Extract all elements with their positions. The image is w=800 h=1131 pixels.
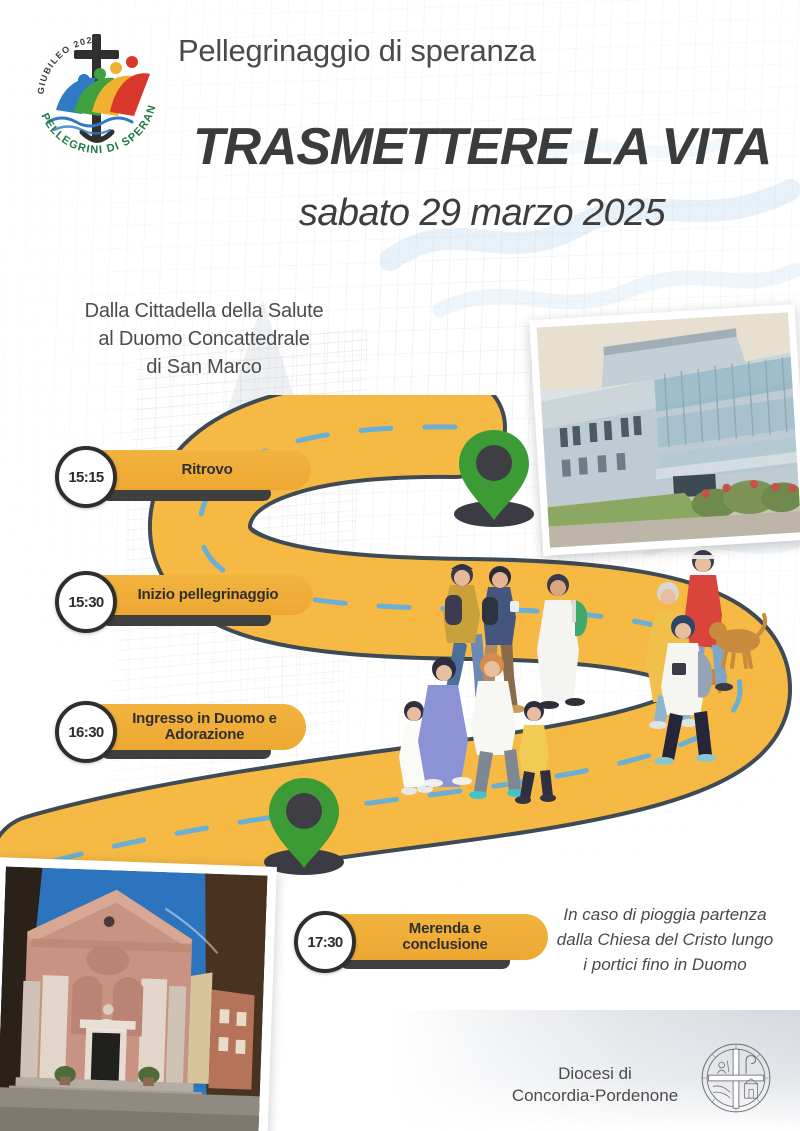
pedestrian-woman-green-bag (537, 574, 587, 709)
schedule-time-badge: 15:15 (55, 446, 117, 508)
poster-headline: Pellegrinaggio di speranza (178, 33, 536, 69)
poster-root: GIUBILEO 2025 PELLEGRINI DI SPERANZA Pel… (0, 0, 800, 1131)
schedule-time-badge: 16:30 (55, 701, 117, 763)
schedule-label: Ritrovo (181, 462, 232, 478)
schedule-time: 16:30 (68, 724, 103, 741)
schedule-label: Inizio pellegrinaggio (138, 587, 279, 603)
pilgrims-figures (56, 56, 150, 116)
diocese-seal-icon (700, 1042, 772, 1114)
schedule-time-badge: 17:30 (294, 911, 356, 973)
schedule-label: Merenda e conclusione (402, 921, 487, 953)
schedule-time-badge: 15:30 (55, 571, 117, 633)
schedule-time: 17:30 (307, 934, 342, 951)
cittadella-della-salute-photo (529, 304, 800, 556)
schedule-time: 15:30 (68, 594, 103, 611)
duomo-san-marco-photo (0, 857, 277, 1131)
rain-contingency-note: In caso di pioggia partenza dalla Chiesa… (540, 902, 790, 977)
route-description: Dalla Cittadella della Salute al Duomo C… (44, 297, 364, 381)
start-marker (446, 424, 542, 528)
end-marker (256, 772, 352, 876)
diocese-name: Diocesi di Concordia-Pordenone (500, 1063, 690, 1107)
schedule-time: 15:15 (68, 469, 103, 486)
poster-subtitle: sabato 29 marzo 2025 (182, 192, 782, 235)
schedule-label: Ingresso in Duomo e Adorazione (132, 711, 277, 743)
giubileo-2025-logo: GIUBILEO 2025 PELLEGRINI DI SPERANZA (22, 18, 172, 168)
poster-main-title: TRASMETTERE LA VITA (182, 117, 782, 177)
